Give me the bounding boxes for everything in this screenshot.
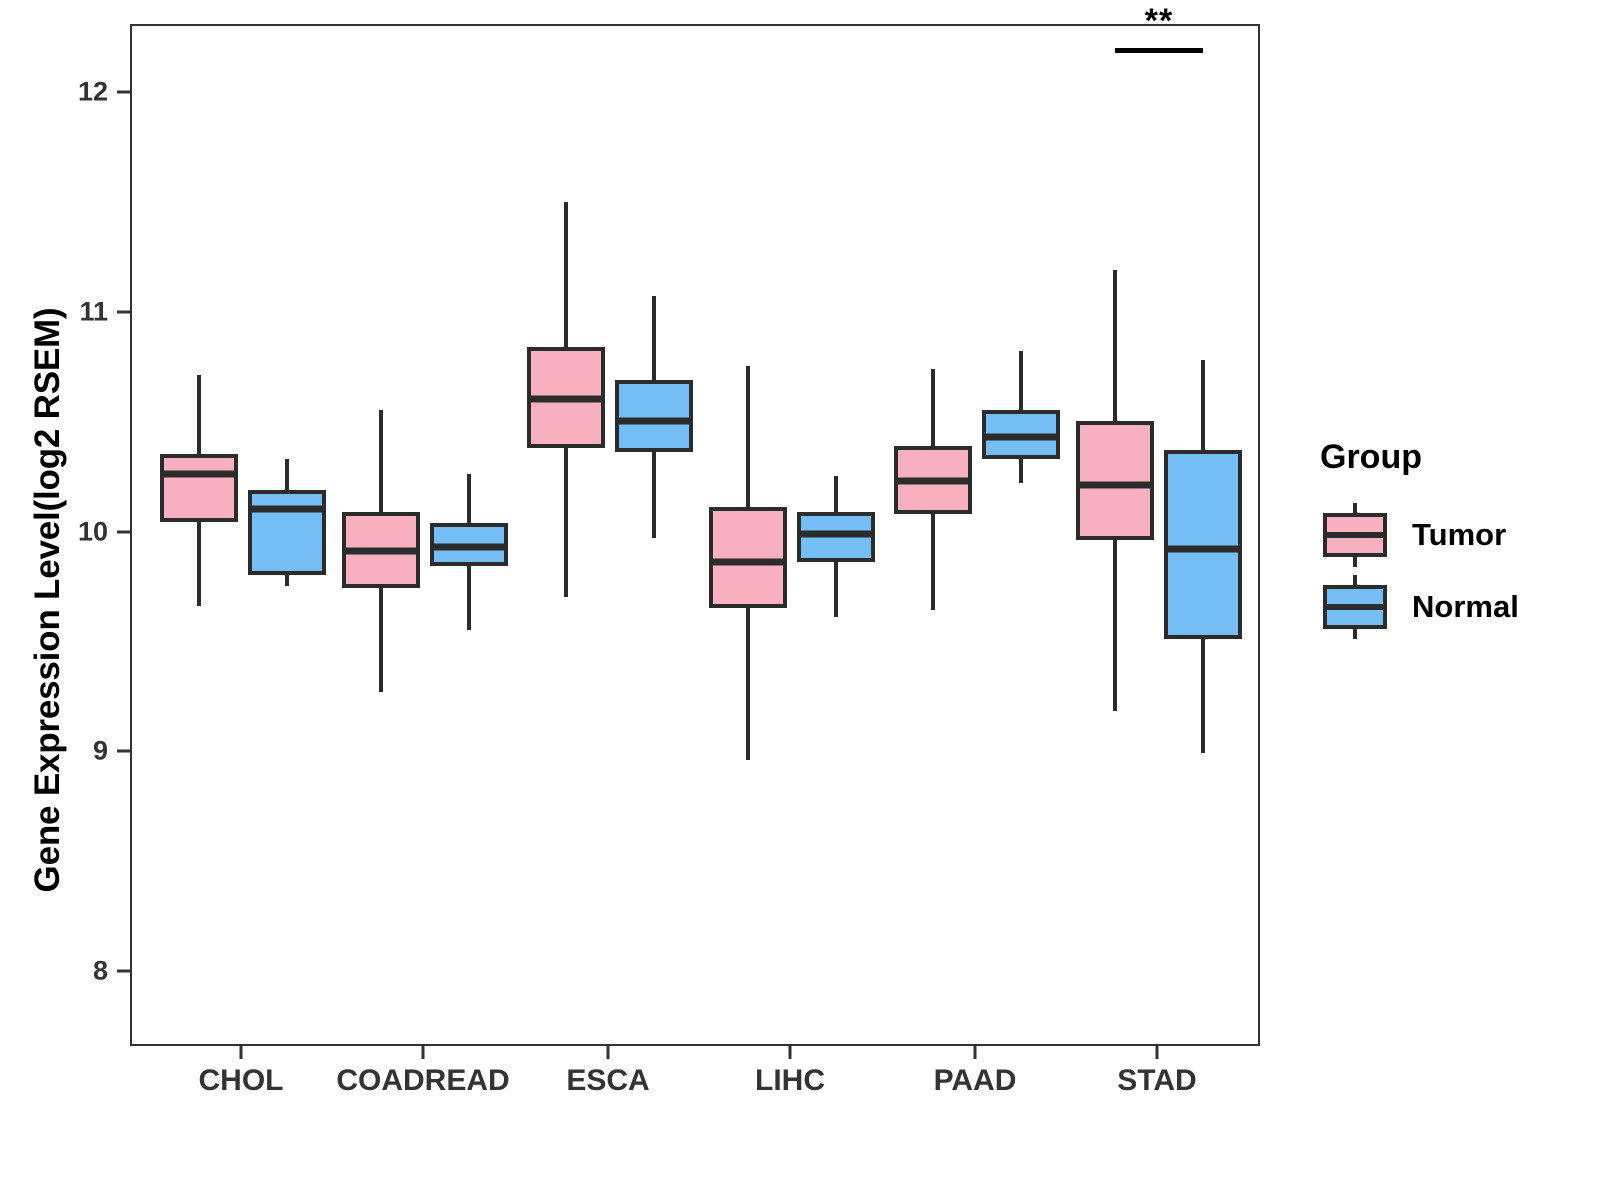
box-chol-tumor[interactable] <box>160 454 238 522</box>
x-tick-mark <box>974 1046 977 1059</box>
x-tick-mark <box>607 1046 610 1059</box>
x-tick-mark <box>789 1046 792 1059</box>
x-tick-mark <box>1156 1046 1159 1059</box>
legend-key-normal <box>1320 571 1390 643</box>
median-coadread-normal <box>430 543 508 550</box>
median-paad-normal <box>982 433 1060 440</box>
plot-panel: ** <box>130 24 1260 1046</box>
x-tick-label-coadread: COADREAD <box>336 1064 509 1098</box>
legend-key-tumor <box>1320 499 1390 571</box>
y-tick-label: 10 <box>78 516 108 547</box>
y-tick-mark <box>117 750 130 753</box>
median-stad-tumor <box>1076 482 1154 489</box>
y-tick-label: 8 <box>93 956 108 987</box>
legend-title: Group <box>1320 438 1590 477</box>
median-esca-normal <box>615 418 693 425</box>
median-coadread-tumor <box>342 548 420 555</box>
y-tick-label: 11 <box>79 296 108 327</box>
y-tick-mark <box>117 91 130 94</box>
y-tick-mark <box>117 970 130 973</box>
x-tick-label-chol: CHOL <box>199 1064 284 1098</box>
y-tick-label: 12 <box>78 77 108 108</box>
significance-bracket-line <box>1115 48 1203 53</box>
y-tick-mark <box>117 310 130 313</box>
plot-area: ** <box>132 26 1258 1044</box>
x-tick-label-esca: ESCA <box>566 1064 649 1098</box>
legend-items: TumorNormal <box>1320 499 1590 643</box>
legend-item-tumor[interactable]: Tumor <box>1320 499 1590 571</box>
x-tick-label-lihc: LIHC <box>755 1064 825 1098</box>
x-tick-label-stad: STAD <box>1117 1064 1196 1098</box>
significance-label: ** <box>1145 2 1173 41</box>
box-chol-normal[interactable] <box>248 490 326 576</box>
median-esca-tumor <box>527 396 605 403</box>
y-axis-title: Gene Expression Level(log2 RSEM) <box>28 308 68 893</box>
legend-item-normal[interactable]: Normal <box>1320 571 1590 643</box>
legend-label-tumor: Tumor <box>1412 517 1506 553</box>
legend-label-normal: Normal <box>1412 589 1519 625</box>
median-paad-tumor <box>894 477 972 484</box>
legend-key-median <box>1323 604 1387 610</box>
x-tick-label-paad: PAAD <box>934 1064 1017 1098</box>
box-esca-normal[interactable] <box>615 380 693 453</box>
x-tick-mark <box>422 1046 425 1059</box>
median-chol-normal <box>248 506 326 513</box>
y-axis-title-wrapper: Gene Expression Level(log2 RSEM) <box>40 0 42 1200</box>
x-tick-mark <box>240 1046 243 1059</box>
median-lihc-normal <box>797 530 875 537</box>
y-tick-label: 9 <box>93 736 108 767</box>
legend: Group TumorNormal <box>1320 438 1590 643</box>
median-stad-normal <box>1164 545 1242 552</box>
median-lihc-tumor <box>709 559 787 566</box>
y-tick-mark <box>117 530 130 533</box>
chart-root: Gene Expression Level(log2 RSEM) 8910111… <box>0 0 1600 1200</box>
legend-key-median <box>1323 532 1387 538</box>
median-chol-tumor <box>160 471 238 478</box>
